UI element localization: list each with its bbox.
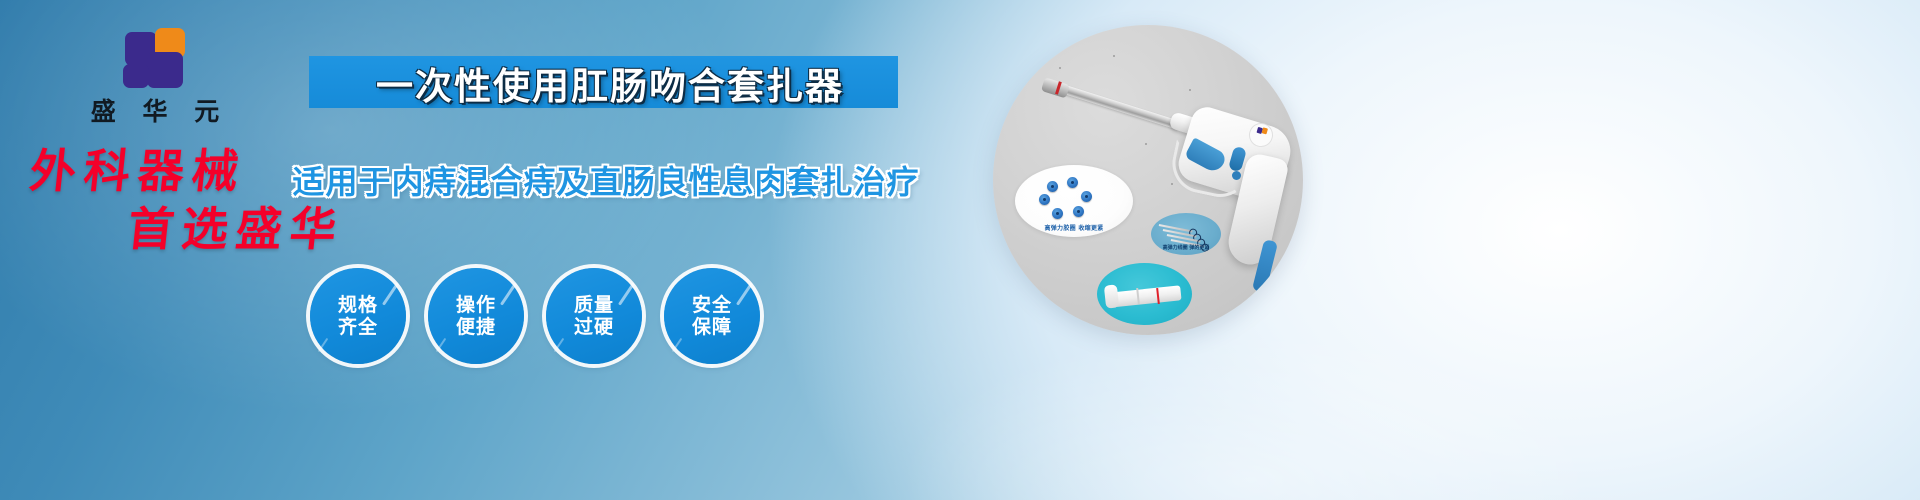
highlight-streak-small-icon — [318, 338, 329, 352]
device-tip — [1041, 77, 1070, 98]
cylinder-head-icon — [1104, 284, 1119, 308]
feature-label-line1: 操作 — [456, 294, 496, 316]
highlight-streak-small-icon — [672, 338, 683, 352]
page-title: 一次性使用肛肠吻合套扎器 — [320, 57, 900, 109]
page-subtitle: 适用于内痔混合痔及直肠良性息肉套扎治疗 — [296, 158, 916, 202]
highlight-streak-icon — [618, 282, 635, 305]
feature-label-line1: 规格 — [338, 294, 378, 316]
background-glow-bottom — [900, 330, 1600, 500]
brand-name: 盛 华 元 — [62, 92, 248, 128]
feature-label-line1: 质量 — [574, 294, 614, 316]
feature-badge-operation[interactable]: 操作 便捷 — [428, 268, 524, 364]
feature-badge-quality[interactable]: 质量 过硬 — [546, 268, 642, 364]
rubber-rings-inset: 高弹力胶圈 收缩更紧 — [1015, 165, 1133, 237]
feature-label-line2: 齐全 — [338, 316, 378, 338]
device-round-button — [1232, 171, 1241, 180]
feature-label-line2: 便捷 — [456, 316, 496, 338]
logo-blocks-icon — [103, 26, 207, 88]
brand-logo[interactable]: 盛 华 元 — [62, 26, 248, 130]
highlight-streak-icon — [500, 282, 517, 305]
wire-loops-caption: 高弹力线圈 弹的更紧 — [1151, 244, 1221, 251]
rubber-rings-caption: 高弹力胶圈 收缩更紧 — [1015, 223, 1133, 232]
highlight-streak-small-icon — [436, 338, 447, 352]
promo-banner: 盛 华 元 外科器械 首选盛华 一次性使用肛肠吻合套扎器 适用于内痔混合痔及直肠… — [0, 0, 1920, 500]
feature-label-line2: 保障 — [692, 316, 732, 338]
feature-badge-safety[interactable]: 安全 保障 — [664, 268, 760, 364]
feature-badge-list: 规格 齐全 操作 便捷 质量 过硬 安全 保障 — [310, 268, 880, 364]
feature-label-line2: 过硬 — [574, 316, 614, 338]
highlight-streak-small-icon — [554, 338, 565, 352]
feature-badge-specs[interactable]: 规格 齐全 — [310, 268, 406, 364]
slogan-line-2: 首选盛华 — [126, 206, 447, 252]
highlight-streak-icon — [736, 282, 753, 305]
feature-label-line1: 安全 — [692, 294, 732, 316]
wire-loops-inset: 高弹力线圈 弹的更紧 — [1151, 213, 1221, 255]
cylinder-shape-icon — [1108, 285, 1181, 307]
cylinder-inset — [1097, 263, 1192, 325]
highlight-streak-icon — [382, 282, 399, 305]
product-photo: 高弹力胶圈 收缩更紧 高弹力线圈 弹的更紧 — [993, 25, 1303, 335]
